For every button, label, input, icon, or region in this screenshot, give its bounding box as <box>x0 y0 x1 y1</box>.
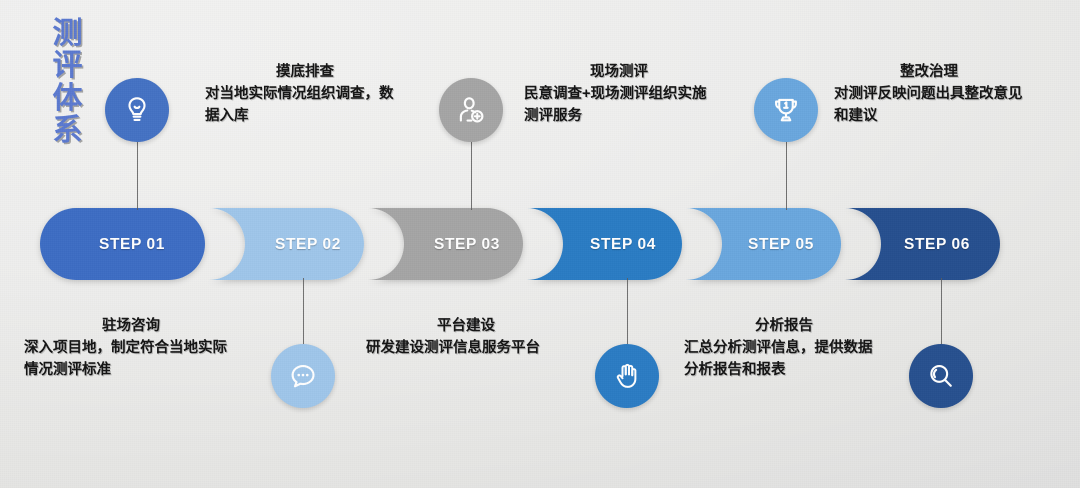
step-pill-03[interactable] <box>368 208 523 280</box>
connector-line-05 <box>786 140 787 210</box>
step-icon-circle-05[interactable] <box>754 78 818 142</box>
step-body-05: 汇总分析测评信息，提供数据分析报告和报表 <box>684 337 884 381</box>
step-icon-circle-04[interactable] <box>595 344 659 408</box>
step-body-02: 对当地实际情况组织调查，数据入库 <box>205 83 405 127</box>
step-pill-05[interactable] <box>686 208 841 280</box>
raised-hand-icon <box>612 361 642 391</box>
step-text-06: 整改治理 对测评反映问题出具整改意见和建议 <box>834 62 1024 127</box>
step-body-06: 对测评反映问题出具整改意见和建议 <box>834 83 1024 127</box>
speech-bubble-dots-icon <box>288 361 318 391</box>
step-text-05: 分析报告 汇总分析测评信息，提供数据分析报告和报表 <box>684 316 884 381</box>
step-body-04: 民意调查+现场测评组织实施测评服务 <box>524 83 714 127</box>
step-heading-06: 整改治理 <box>834 62 1024 83</box>
step-body-03: 研发建设测评信息服务平台 <box>366 337 566 359</box>
step-icon-circle-02[interactable] <box>271 344 335 408</box>
step-heading-03: 平台建设 <box>366 316 566 337</box>
step-icon-circle-03[interactable] <box>439 78 503 142</box>
step-text-02: 摸底排查 对当地实际情况组织调查，数据入库 <box>205 62 405 127</box>
step-icon-circle-06[interactable] <box>909 344 973 408</box>
step-text-04: 现场测评 民意调查+现场测评组织实施测评服务 <box>524 62 714 127</box>
step-heading-04: 现场测评 <box>524 62 714 83</box>
step-heading-02: 摸底排查 <box>205 62 405 83</box>
add-user-icon <box>456 95 486 125</box>
infographic-canvas: STEP 01 STEP 02 STEP 03 STEP 04 STEP 05 … <box>0 0 1080 488</box>
lightbulb-icon <box>122 95 152 125</box>
step-body-01: 深入项目地，制定符合当地实际情况测评标准 <box>24 337 238 381</box>
page-title: 测 评 体 系 <box>36 18 100 148</box>
step-heading-01: 驻场咨询 <box>24 316 238 337</box>
connector-line-03 <box>471 140 472 210</box>
magnifier-icon <box>926 361 956 391</box>
connector-line-06 <box>941 278 942 346</box>
connector-line-01 <box>137 140 138 210</box>
step-icon-circle-01[interactable] <box>105 78 169 142</box>
step-pill-04[interactable] <box>527 208 682 280</box>
step-text-01: 驻场咨询 深入项目地，制定符合当地实际情况测评标准 <box>24 316 238 381</box>
step-pill-02[interactable] <box>209 208 364 280</box>
step-heading-05: 分析报告 <box>684 316 884 337</box>
step-pill-06[interactable] <box>845 208 1000 280</box>
connector-line-04 <box>627 278 628 346</box>
step-text-03: 平台建设 研发建设测评信息服务平台 <box>366 316 566 359</box>
step-pill-01[interactable] <box>40 208 205 280</box>
trophy-icon <box>771 95 801 125</box>
connector-line-02 <box>303 278 304 346</box>
